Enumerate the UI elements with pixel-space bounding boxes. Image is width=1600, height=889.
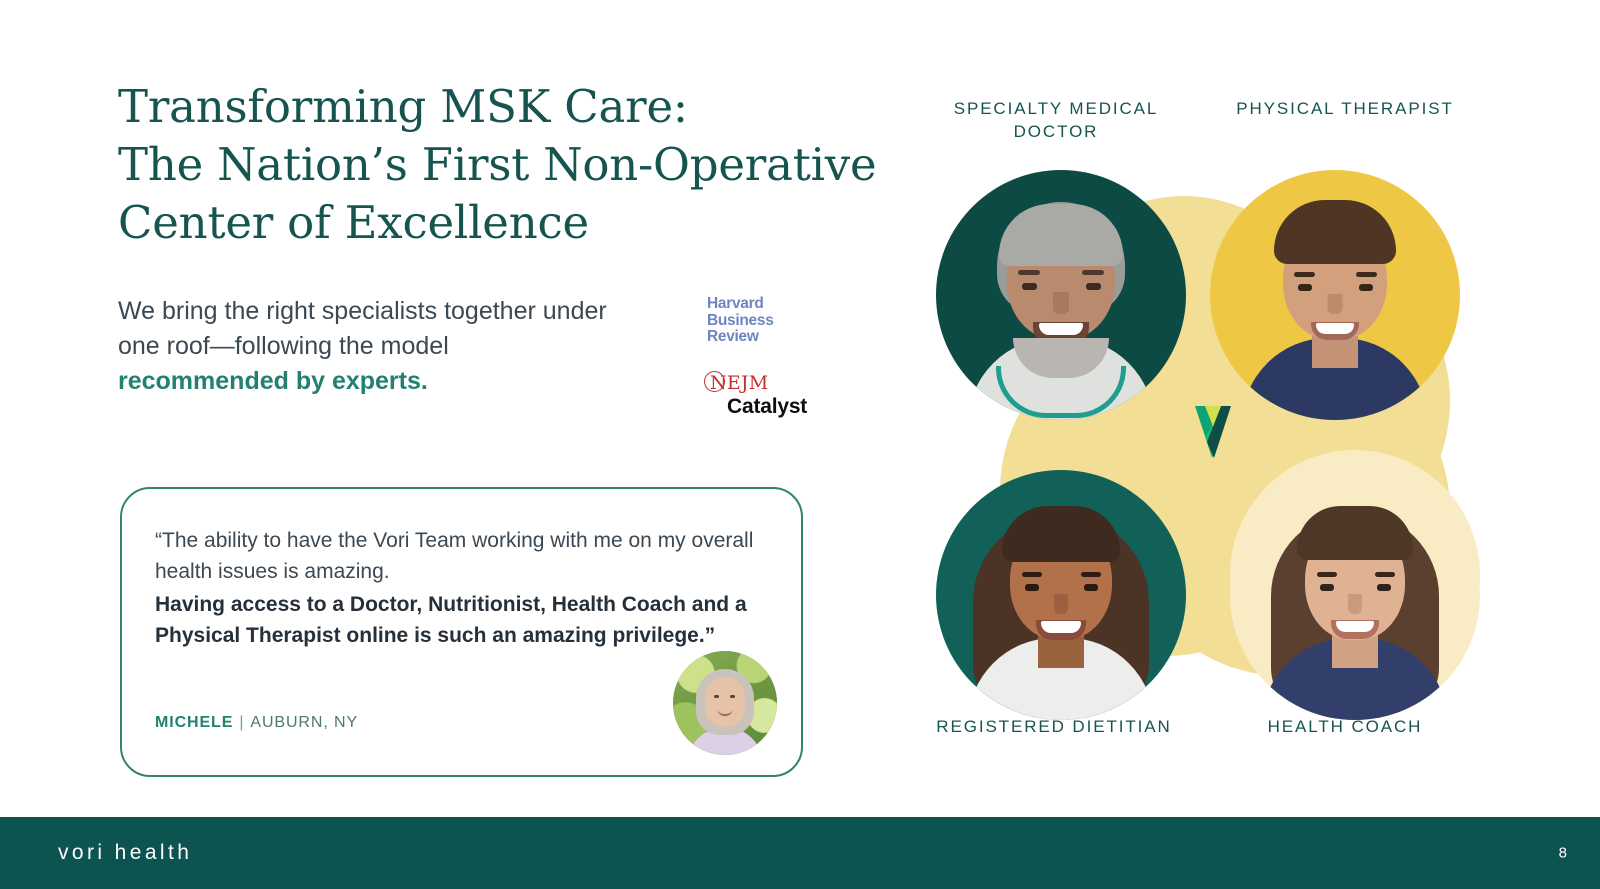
person-brow-left bbox=[1294, 272, 1315, 277]
harvard-business-review-logo: Harvard Business Review bbox=[707, 296, 817, 346]
catalyst-text: Catalyst bbox=[727, 395, 817, 419]
person-hair bbox=[1002, 506, 1120, 562]
person-illustration bbox=[936, 470, 1186, 720]
person-nose bbox=[1328, 294, 1343, 314]
nejm-wordmark: NEJM bbox=[707, 372, 768, 394]
person-nose bbox=[1054, 594, 1068, 614]
nejm-oval-icon bbox=[704, 371, 725, 392]
testimonial-card: “The ability to have the Vori Team worki… bbox=[120, 487, 803, 777]
person-hair-top bbox=[999, 204, 1123, 266]
person-brow-left bbox=[1018, 270, 1040, 275]
care-team-diagram: SPECIALTY MEDICAL DOCTOR PHYSICAL THERAP… bbox=[900, 80, 1540, 760]
press-logos: Harvard Business Review NEJM Catalyst bbox=[707, 296, 817, 419]
person-teeth bbox=[1039, 323, 1083, 335]
person-brow-right bbox=[1082, 270, 1104, 275]
person-nose bbox=[1348, 594, 1362, 614]
footer-page-number: 8 bbox=[1559, 845, 1567, 862]
avatar-eye-right bbox=[730, 695, 735, 698]
person-brow-right bbox=[1356, 272, 1377, 277]
vori-v-logo-icon bbox=[1187, 402, 1239, 460]
label-physical-therapist: PHYSICAL THERAPIST bbox=[1200, 97, 1490, 120]
person-illustration bbox=[1230, 470, 1480, 720]
person-eye-left bbox=[1022, 283, 1037, 290]
subheading-accent: recommended by experts. bbox=[118, 364, 638, 399]
person-eye-left bbox=[1298, 284, 1312, 291]
testimonial-attribution: MICHELE|AUBURN, NY bbox=[155, 714, 358, 732]
testimonial-text-block: “The ability to have the Vori Team worki… bbox=[155, 525, 755, 651]
attribution-separator: | bbox=[239, 714, 244, 731]
person-teeth bbox=[1316, 323, 1354, 334]
person-eye-right bbox=[1086, 283, 1101, 290]
person-brow-right bbox=[1081, 572, 1101, 577]
person-eye-right bbox=[1377, 584, 1391, 591]
label-specialty-medical-doctor: SPECIALTY MEDICAL DOCTOR bbox=[916, 97, 1196, 143]
person-eye-right bbox=[1084, 584, 1098, 591]
avatar-face bbox=[705, 677, 745, 727]
slide-footer: vori health 8 bbox=[0, 817, 1600, 889]
person-eye-left bbox=[1320, 584, 1334, 591]
photo-health-coach bbox=[1230, 470, 1480, 720]
testimonial-quote-light: “The ability to have the Vori Team worki… bbox=[155, 525, 755, 587]
subheading: We bring the right specialists together … bbox=[118, 294, 638, 399]
person-brow-right bbox=[1375, 572, 1395, 577]
person-illustration bbox=[936, 170, 1186, 420]
person-teeth bbox=[1336, 621, 1374, 632]
photo-registered-dietitian bbox=[936, 470, 1186, 720]
testimonial-avatar bbox=[673, 651, 777, 755]
person-nose bbox=[1053, 292, 1069, 314]
slide-root: Transforming MSK Care: The Nation’s Firs… bbox=[0, 0, 1600, 889]
testimonial-quote-bold: Having access to a Doctor, Nutritionist,… bbox=[155, 589, 755, 651]
person-hair bbox=[1274, 200, 1396, 264]
person-teeth bbox=[1041, 621, 1081, 633]
person-eye-right bbox=[1359, 284, 1373, 291]
avatar-eye-left bbox=[714, 695, 719, 698]
photo-specialty-medical-doctor bbox=[936, 170, 1186, 420]
nejm-catalyst-logo: NEJM Catalyst bbox=[707, 372, 817, 419]
person-illustration bbox=[1210, 170, 1460, 420]
person-hair bbox=[1297, 506, 1413, 560]
testimonial-location: AUBURN, NY bbox=[250, 714, 358, 731]
person-brow-left bbox=[1022, 572, 1042, 577]
photo-physical-therapist bbox=[1210, 170, 1460, 420]
page-title: Transforming MSK Care: The Nation’s Firs… bbox=[118, 78, 878, 252]
person-brow-left bbox=[1317, 572, 1337, 577]
testimonial-author: MICHELE bbox=[155, 714, 233, 731]
subheading-plain: We bring the right specialists together … bbox=[118, 297, 607, 360]
footer-brand-wordmark: vori health bbox=[58, 841, 192, 865]
person-eye-left bbox=[1025, 584, 1039, 591]
